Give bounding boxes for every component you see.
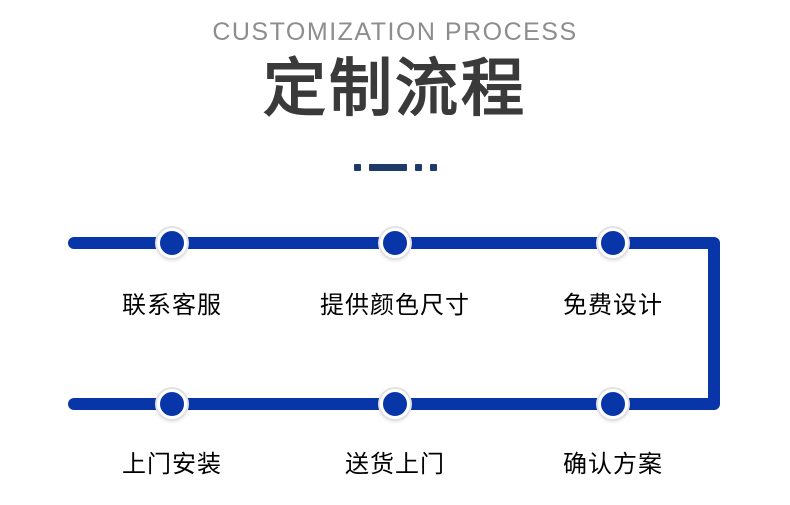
process-flow-diagram: 联系客服 提供颜色尺寸 免费设计 上门安装 送货上门 确认 <box>0 0 790 505</box>
flow-step-label: 联系客服 <box>62 285 282 320</box>
customization-process-banner: CUSTOMIZATION PROCESS 定制流程 联系客服 提供颜色尺寸 <box>0 0 790 505</box>
flow-step-label: 送货上门 <box>285 444 505 479</box>
flow-node-icon <box>380 389 410 419</box>
flow-step-label: 免费设计 <box>503 285 723 320</box>
flow-node-icon <box>598 228 628 258</box>
flow-step-label: 上门安装 <box>62 444 282 479</box>
flow-step-label: 确认方案 <box>503 444 723 479</box>
flow-step-label: 提供颜色尺寸 <box>285 285 505 320</box>
flow-node-icon <box>598 389 628 419</box>
flow-node-icon <box>380 228 410 258</box>
flow-node-icon <box>157 389 187 419</box>
flow-node-icon <box>157 228 187 258</box>
flow-connector-bracket <box>660 237 720 410</box>
